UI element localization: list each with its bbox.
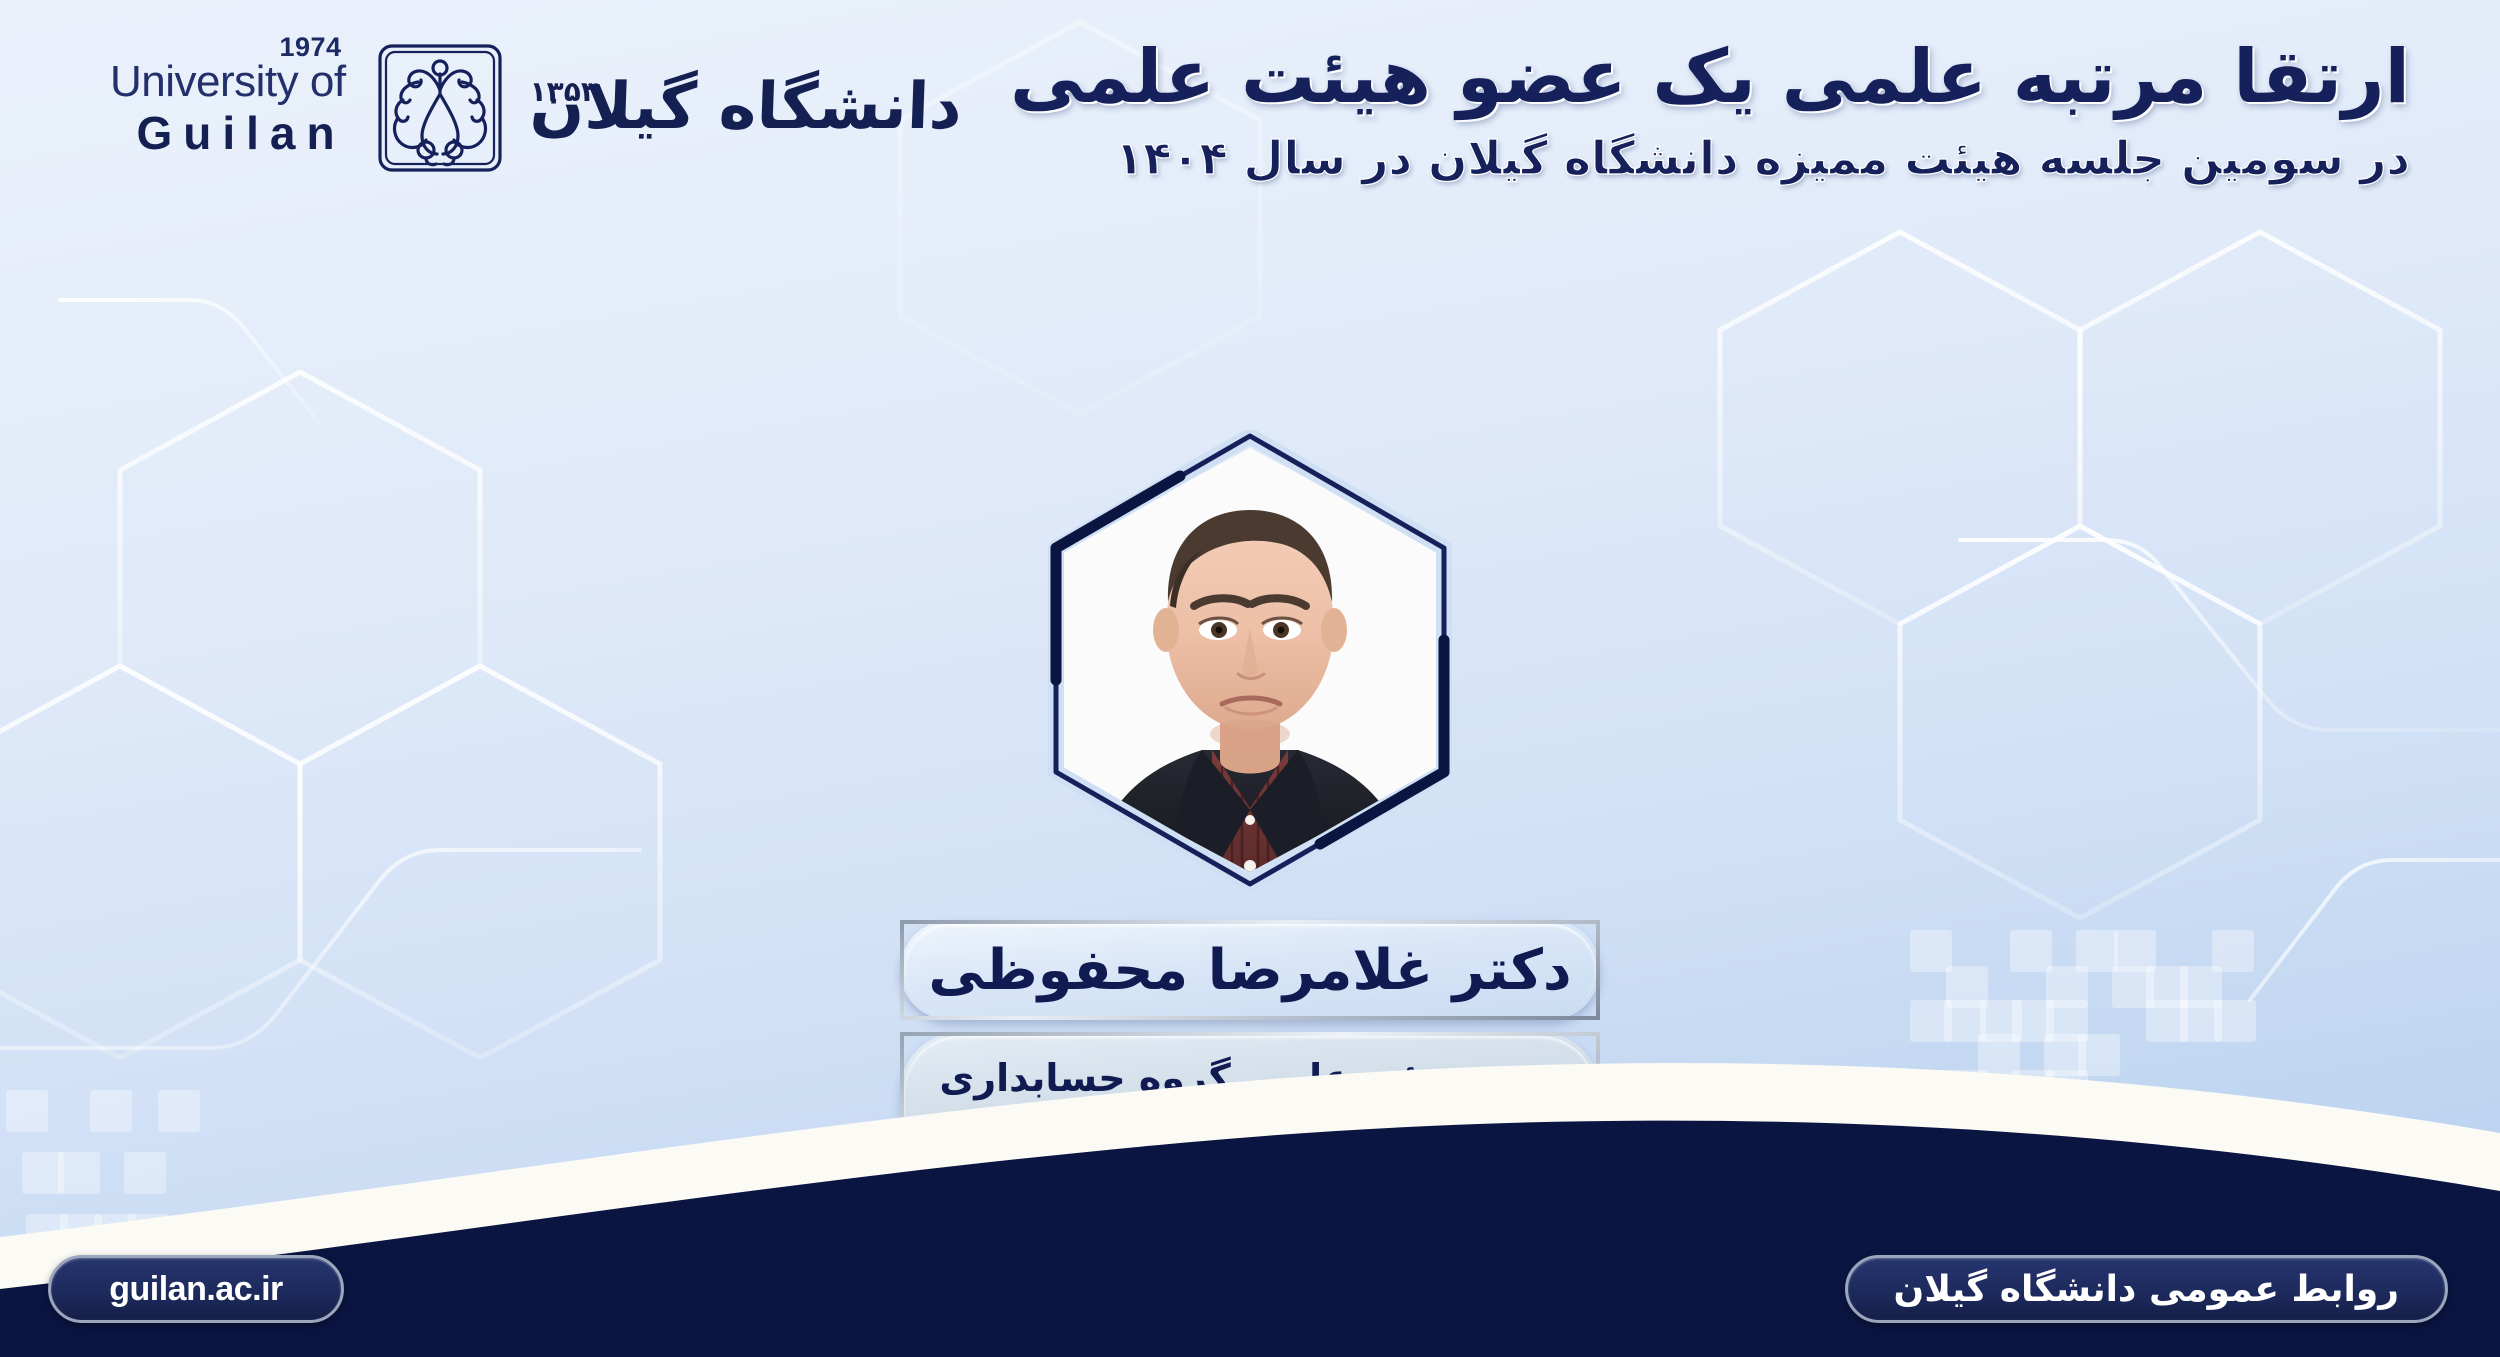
website-url: guilan.ac.ir <box>109 1270 283 1309</box>
person-role-line-1: عضو هیئت علمی گروه حسابداری <box>904 1052 1596 1104</box>
university-logo: 1974 University of Guilan <box>110 38 961 178</box>
guilan-emblem-icon <box>370 38 510 178</box>
portrait-photo <box>1030 430 1470 890</box>
public-relations-pill: روابط عمومی دانشگاه گیلان <box>1845 1255 2448 1323</box>
header-titles: ارتقا مرتبه علمی یک عضو هیئت علمی در سوم… <box>1010 34 2410 187</box>
person-role-line-2: ارتقا به دانشیاری <box>904 1104 1596 1156</box>
portrait-frame <box>1030 430 1470 890</box>
website-pill[interactable]: guilan.ac.ir <box>48 1255 344 1323</box>
logo-line-guilan: Guilan <box>110 110 346 156</box>
page-title: ارتقا مرتبه علمی یک عضو هیئت علمی <box>1010 34 2410 121</box>
header: 1974 University of Guilan <box>0 0 2500 300</box>
logo-founding-year-en: 1974 <box>280 34 342 61</box>
logo-persian-text: ۱۳۵۳ دانشگاه گیلان <box>520 71 962 145</box>
person-name-plate: دکتر غلامرضا محفوظی <box>900 920 1600 1020</box>
dot-grid-right <box>1910 930 2370 1190</box>
logo-line-university-of: University of <box>110 60 346 104</box>
logo-english-text: 1974 University of Guilan <box>110 60 360 156</box>
poster-canvas: 1974 University of Guilan <box>0 0 2500 1357</box>
person-name: دکتر غلامرضا محفوظی <box>928 938 1571 1003</box>
page-subtitle: در سومین جلسه هیئت ممیزه دانشگاه گیلان د… <box>1010 131 2410 186</box>
person-info: دکتر غلامرضا محفوظی عضو هیئت علمی گروه ح… <box>900 920 1600 1181</box>
logo-university-name-fa: دانشگاه گیلان <box>528 71 962 145</box>
public-relations-label: روابط عمومی دانشگاه گیلان <box>1894 1269 2399 1310</box>
person-role-plate: عضو هیئت علمی گروه حسابداری ارتقا به دان… <box>900 1032 1600 1181</box>
